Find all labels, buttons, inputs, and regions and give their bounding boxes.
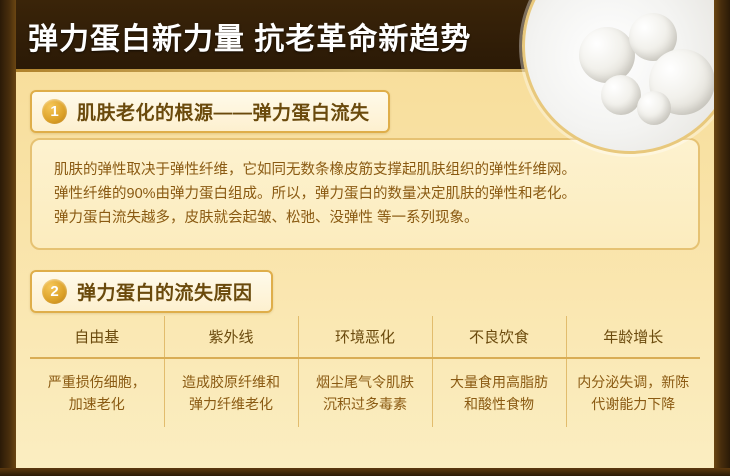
section-number-badge-1: 1 — [42, 99, 67, 124]
section-heading-2: 2 弹力蛋白的流失原因 — [30, 270, 273, 313]
table-header-cell: 环境恶化 — [298, 316, 432, 358]
section-number-badge-2: 2 — [42, 279, 67, 304]
table-header-cell: 紫外线 — [164, 316, 298, 358]
table-header-cell: 年龄增长 — [566, 316, 700, 358]
table-cell-line: 代谢能力下降 — [575, 393, 693, 415]
table-cell: 烟尘尾气令肌肤 沉积过多毒素 — [298, 358, 432, 427]
section-heading-1: 1 肌肤老化的根源——弹力蛋白流失 — [30, 90, 390, 133]
body-line-1: 肌肤的弹性取决于弹性纤维，它如同无数条橡皮筋支撑起肌肤组织的弹性纤维网。 — [54, 158, 676, 182]
table-cell-line: 和酸性食物 — [441, 393, 558, 415]
table-cell-line: 内分泌失调，新陈 — [575, 371, 693, 393]
table-row: 严重损伤细胞， 加速老化 造成胶原纤维和 弹力纤维老化 — [30, 358, 700, 427]
table-header-cell: 不良饮食 — [432, 316, 566, 358]
bottom-edge-border — [0, 468, 730, 476]
table-cell: 大量食用高脂肪 和酸性食物 — [432, 358, 566, 427]
body-line-2: 弹性纤维的90%由弹力蛋白组成。所以，弹力蛋白的数量决定肌肤的弹性和老化。 — [54, 182, 676, 206]
body-line-3: 弹力蛋白流失越多，皮肤就会起皱、松弛、没弹性 等一系列现象。 — [54, 206, 676, 230]
table-cell-line: 沉积过多毒素 — [307, 393, 424, 415]
table-header-cell: 自由基 — [30, 316, 164, 358]
causes-table-wrap: 自由基 紫外线 环境恶化 不良饮食 年龄增长 严重损伤细胞， 加速老化 — [30, 316, 700, 464]
table-cell-line: 弹力纤维老化 — [173, 393, 290, 415]
table-cell-line: 造成胶原纤维和 — [173, 371, 290, 393]
section-title-1: 肌肤老化的根源——弹力蛋白流失 — [77, 98, 370, 125]
table-cell-line: 加速老化 — [38, 393, 156, 415]
page-title: 弹力蛋白新力量 抗老革命新趋势 — [28, 14, 471, 58]
poster-page: 弹力蛋白新力量 抗老革命新趋势 1 肌肤老化的根源——弹力蛋白流失 肌肤的弹性取… — [0, 0, 730, 476]
body-text-card: 肌肤的弹性取决于弹性纤维，它如同无数条橡皮筋支撑起肌肤组织的弹性纤维网。 弹性纤… — [30, 138, 700, 250]
section-title-2: 弹力蛋白的流失原因 — [77, 278, 253, 305]
table-cell-line: 烟尘尾气令肌肤 — [307, 371, 424, 393]
table-cell-line: 严重损伤细胞， — [38, 371, 156, 393]
table-cell-line: 大量食用高脂肪 — [441, 371, 558, 393]
left-edge-border — [0, 0, 16, 476]
pearl-icon — [579, 27, 635, 83]
table-header-row: 自由基 紫外线 环境恶化 不良饮食 年龄增长 — [30, 316, 700, 358]
causes-table: 自由基 紫外线 环境恶化 不良饮食 年龄增长 严重损伤细胞， 加速老化 — [30, 316, 700, 427]
pearl-icon — [637, 91, 671, 125]
table-cell: 严重损伤细胞， 加速老化 — [30, 358, 164, 427]
right-edge-border — [714, 0, 730, 476]
table-cell: 内分泌失调，新陈 代谢能力下降 — [566, 358, 700, 427]
pearl-icon — [601, 75, 641, 115]
table-cell: 造成胶原纤维和 弹力纤维老化 — [164, 358, 298, 427]
